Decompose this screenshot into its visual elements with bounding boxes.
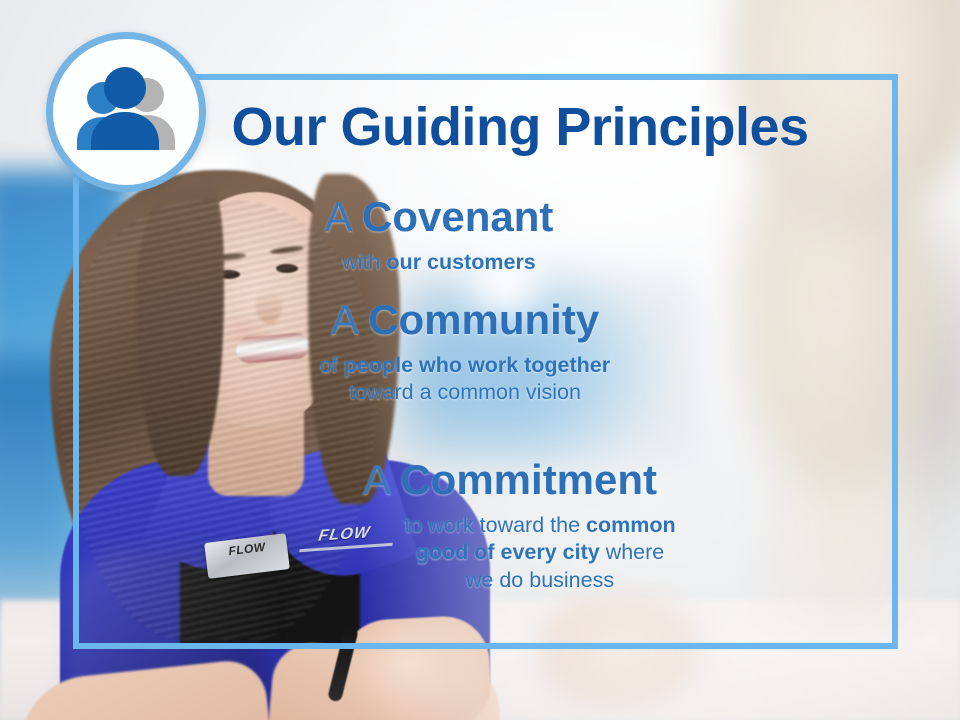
principle-commitment-word: Commitment (400, 456, 657, 503)
principle-commitment-sub-line-2: good of every city where (0, 539, 960, 567)
principle-commitment-article: A (363, 456, 389, 503)
commitment-sub-1a: to work toward the (404, 513, 586, 537)
principle-community-word: Community (368, 296, 599, 343)
page-title: Our Guiding Principles (0, 96, 960, 158)
principle-covenant: A Covenant with our customers (0, 195, 960, 276)
principle-community: A Community of people who work together … (0, 298, 960, 407)
principle-community-sub-line-2: toward a common vision (0, 379, 960, 407)
commitment-sub-3a: we do business (466, 568, 614, 592)
commitment-sub-2b: where (600, 540, 665, 564)
community-sub-1b: people who work together (344, 353, 610, 377)
principle-commitment-sub-line-3: we do business (0, 567, 960, 595)
covenant-sub-1a: with (342, 250, 386, 274)
commitment-sub-2a: good of every city (416, 540, 600, 564)
principle-commitment-sub-line-1: to work toward the common (0, 512, 960, 540)
principle-commitment-heading: A Commitment (0, 458, 960, 503)
principle-covenant-heading: A Covenant (0, 195, 960, 240)
principle-community-sub-line-1: of people who work together (0, 352, 960, 380)
principle-covenant-article: A (325, 193, 351, 240)
commitment-sub-1b: common (586, 513, 676, 537)
guiding-principles-banner: FLOW FLOW Our Guiding Principles (0, 0, 960, 720)
community-sub-2a: toward a common vision (349, 380, 581, 404)
community-sub-1a: of (320, 353, 344, 377)
principle-covenant-word: Covenant (362, 193, 553, 240)
principle-community-heading: A Community (0, 298, 960, 343)
principle-commitment: A Commitment to work toward the common g… (0, 458, 960, 594)
principle-covenant-sub-line-1: with our customers (0, 249, 960, 277)
principle-community-article: A (331, 296, 357, 343)
covenant-sub-1b: our customers (386, 250, 535, 274)
